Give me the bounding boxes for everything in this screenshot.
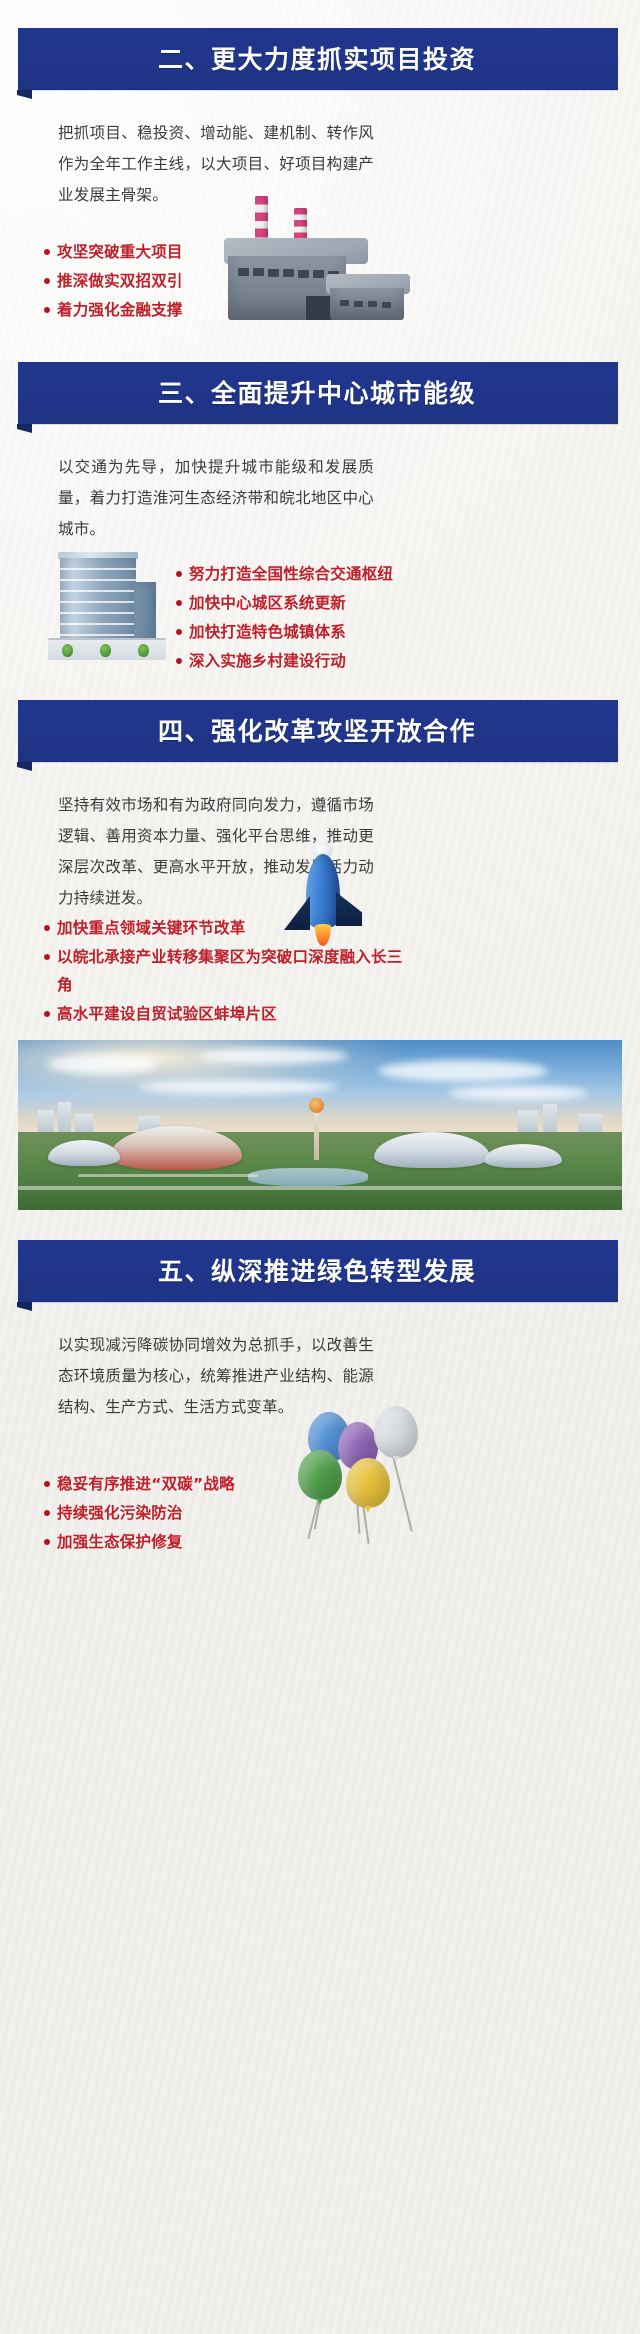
section-2: 二、更大力度抓实项目投资 <box>0 28 640 90</box>
section-3-bullets: 努力打造全国性综合交通枢纽 加快中心城区系统更新 加快打造特色城镇体系 深入实施… <box>176 560 442 676</box>
shrub-icon <box>138 644 149 657</box>
factory-smokestack-left <box>255 196 268 244</box>
section-3: 三、全面提升中心城市能级 <box>0 362 640 424</box>
section-3-title: 三、全面提升中心城市能级 <box>158 381 478 406</box>
factory-window <box>340 300 349 306</box>
section-4-title: 四、强化改革攻坚开放合作 <box>158 719 478 744</box>
section-4: 四、强化改革攻坚开放合作 <box>0 700 640 762</box>
bullet-item: 加强生态保护修复 <box>44 1528 304 1556</box>
balloon-yellow <box>346 1458 390 1508</box>
section-4-header: 四、强化改革攻坚开放合作 <box>18 700 618 762</box>
bullet-item: 深入实施乡村建设行动 <box>176 647 442 675</box>
section-5-title: 五、纵深推进绿色转型发展 <box>158 1259 478 1284</box>
factory-window <box>382 302 391 308</box>
ribbon-banner: 四、强化改革攻坚开放合作 <box>18 700 618 762</box>
city-panorama-photo <box>18 1040 622 1210</box>
section-2-bullets: 攻坚突破重大项目 推深做实双招双引 着力强化金融支撑 <box>44 238 254 325</box>
bullet-dot-icon <box>44 954 50 960</box>
bullet-label: 持续强化污染防治 <box>57 1499 304 1527</box>
bullet-label: 稳妥有序推进“双碳”战略 <box>57 1470 304 1498</box>
office-tower-icon <box>46 552 168 664</box>
photo-road <box>18 1186 622 1190</box>
shrub-icon <box>62 644 73 657</box>
bullet-dot-icon <box>44 307 50 313</box>
shrub-icon <box>100 644 111 657</box>
section-2-header: 二、更大力度抓实项目投资 <box>18 28 618 90</box>
tower-floor-line <box>60 623 136 625</box>
factory-window <box>298 270 309 278</box>
photo-cloud <box>138 1080 338 1094</box>
tower-floor-line <box>60 601 136 603</box>
section-2-title: 二、更大力度抓实项目投资 <box>158 47 478 72</box>
bullet-item: 持续强化污染防治 <box>44 1499 304 1527</box>
ribbon-fold-decoration <box>17 90 32 99</box>
tower-floor-line <box>60 612 136 614</box>
bullet-label: 攻坚突破重大项目 <box>57 238 254 266</box>
bullet-item: 高水平建设自贸试验区蚌埠片区 <box>44 1000 414 1028</box>
tower-floor-line <box>60 634 136 636</box>
balloons-icon <box>288 1400 434 1560</box>
bullet-dot-icon <box>176 571 182 577</box>
bullet-dot-icon <box>44 249 50 255</box>
bullet-label: 努力打造全国性综合交通枢纽 <box>189 560 442 588</box>
bullet-label: 加快中心城区系统更新 <box>189 589 442 617</box>
balloon-string <box>307 1496 319 1539</box>
ribbon-fold-decoration <box>17 762 32 771</box>
factory-window <box>313 270 324 278</box>
photo-cloud <box>448 1086 588 1100</box>
section-3-paragraph: 以交通为先导，加快提升城市能级和发展质量，着力打造淮河生态经济带和皖北地区中心城… <box>58 452 374 545</box>
bullet-label: 高水平建设自贸试验区蚌埠片区 <box>57 1000 414 1028</box>
bullet-dot-icon <box>44 278 50 284</box>
ribbon-banner: 五、纵深推进绿色转型发展 <box>18 1240 618 1302</box>
bullet-label: 加强生态保护修复 <box>57 1528 304 1556</box>
tower-floor-line <box>60 579 136 581</box>
ribbon-banner: 二、更大力度抓实项目投资 <box>18 28 618 90</box>
bullet-item: 加快重点领域关键环节改革 <box>44 914 414 942</box>
factory-window <box>253 268 264 276</box>
bullet-label: 推深做实双招双引 <box>57 267 254 295</box>
section-5: 五、纵深推进绿色转型发展 <box>0 1240 640 1302</box>
bullet-item: 努力打造全国性综合交通枢纽 <box>176 560 442 588</box>
bullet-dot-icon <box>44 925 50 931</box>
photo-cloud <box>48 1054 158 1074</box>
photo-lake <box>248 1168 368 1186</box>
bullet-dot-icon <box>44 1481 50 1487</box>
section-4-bullets: 加快重点领域关键环节改革 以皖北承接产业转移集聚区为突破口深度融入长三角 高水平… <box>44 914 414 1029</box>
bullet-item: 以皖北承接产业转移集聚区为突破口深度融入长三角 <box>44 943 414 999</box>
factory-window <box>268 269 279 277</box>
balloon-string <box>392 1456 412 1532</box>
factory-window <box>354 301 363 307</box>
bullet-dot-icon <box>44 1510 50 1516</box>
factory-window <box>368 301 377 307</box>
infographic-page: 二、更大力度抓实项目投资 把抓项目、稳投资、增动能、建机制、转作风作为全年工作主… <box>0 0 640 2334</box>
tower-floor-line <box>60 590 136 592</box>
ribbon-fold-decoration <box>17 1302 32 1311</box>
bullet-item: 加快中心城区系统更新 <box>176 589 442 617</box>
factory-door <box>306 296 332 320</box>
bullet-dot-icon <box>176 658 182 664</box>
bullet-label: 加快重点领域关键环节改革 <box>57 914 414 942</box>
ribbon-fold-decoration <box>17 424 32 433</box>
tower-facade <box>60 558 136 640</box>
factory-window <box>283 269 294 277</box>
bullet-item: 加快打造特色城镇体系 <box>176 618 442 646</box>
bullet-label: 以皖北承接产业转移集聚区为突破口深度融入长三角 <box>57 943 414 999</box>
photo-cloud <box>378 1060 548 1082</box>
section-3-header: 三、全面提升中心城市能级 <box>18 362 618 424</box>
section-5-header: 五、纵深推进绿色转型发展 <box>18 1240 618 1302</box>
photo-road <box>78 1174 258 1177</box>
bullet-label: 加快打造特色城镇体系 <box>189 618 442 646</box>
tower-annex-facade <box>134 582 156 640</box>
bullet-item: 推深做实双招双引 <box>44 267 254 295</box>
balloon-green <box>298 1450 342 1500</box>
bullet-dot-icon <box>176 629 182 635</box>
bullet-item: 攻坚突破重大项目 <box>44 238 254 266</box>
bullet-dot-icon <box>176 600 182 606</box>
bullet-dot-icon <box>44 1011 50 1017</box>
bullet-item: 着力强化金融支撑 <box>44 296 254 324</box>
balloon-white <box>374 1406 418 1458</box>
photo-cloud <box>198 1048 348 1064</box>
bullet-label: 深入实施乡村建设行动 <box>189 647 442 675</box>
photo-observation-tower-top <box>309 1098 324 1113</box>
ribbon-banner: 三、全面提升中心城市能级 <box>18 362 618 424</box>
bullet-item: 稳妥有序推进“双碳”战略 <box>44 1470 304 1498</box>
bullet-dot-icon <box>44 1539 50 1545</box>
section-5-bullets: 稳妥有序推进“双碳”战略 持续强化污染防治 加强生态保护修复 <box>44 1470 304 1557</box>
bullet-label: 着力强化金融支撑 <box>57 296 254 324</box>
tower-floor-line <box>60 568 136 570</box>
